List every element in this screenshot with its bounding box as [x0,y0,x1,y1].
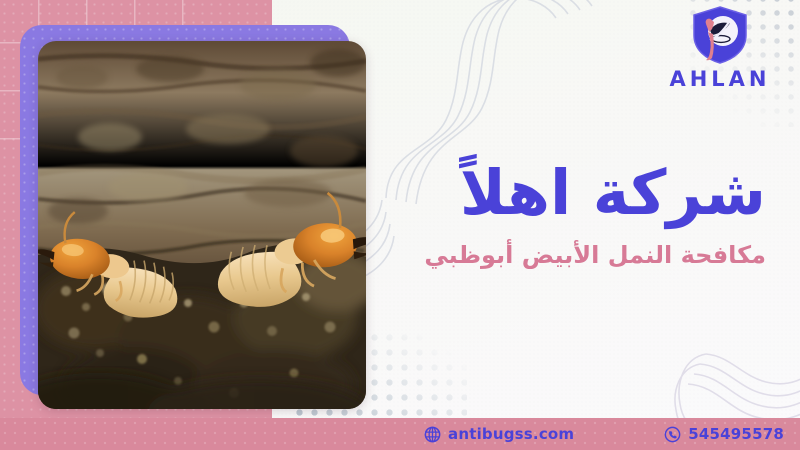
logo-wordmark: AHLAN [666,67,774,91]
page-title: شركة اهلاً [346,158,766,227]
website-label: antibugss.com [448,425,574,443]
shield-pest-control-logo-icon [688,4,752,66]
globe-icon [424,426,441,443]
phone-label: 545495578 [688,425,784,443]
brand-logo[interactable]: AHLAN [666,4,774,91]
whatsapp-icon [664,426,681,443]
page-subtitle: مكافحة النمل الأبيض أبوظبي [346,241,766,270]
website-contact[interactable]: antibugss.com [424,425,574,443]
headline-block: شركة اهلاً مكافحة النمل الأبيض أبوظبي [346,158,766,270]
termite-photo [38,41,366,409]
contact-footer: antibugss.com 545495578 [0,418,800,450]
phone-contact[interactable]: 545495578 [664,425,784,443]
promo-poster: AHLAN شركة اهلاً مكافحة النمل الأبيض أبو… [0,0,800,450]
